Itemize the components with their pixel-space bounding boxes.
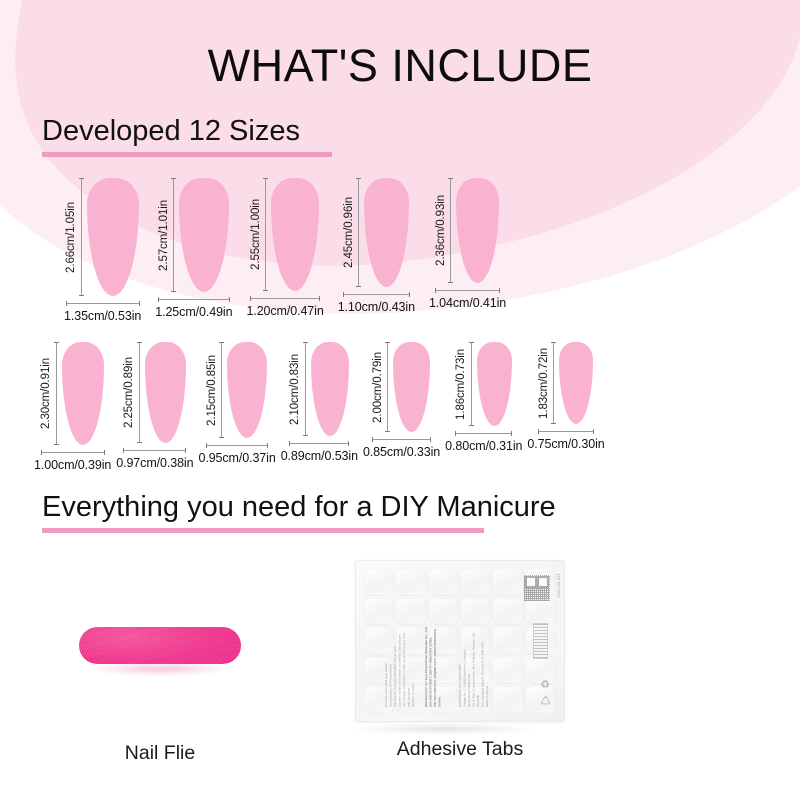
nail-size-visual: 2.10cm/0.83in xyxy=(290,342,349,436)
nail-height-label: 2.10cm/0.83in xyxy=(290,354,302,425)
product-nail-file: Nail Flie xyxy=(40,560,280,765)
nail-height-label: 1.83cm/0.72in xyxy=(539,348,551,419)
nail-height-label: 2.55cm/1.00in xyxy=(251,199,263,270)
nail-width-dimension: 1.35cm/0.53in xyxy=(64,296,141,323)
nail-size-item: 2.45cm/0.96in1.10cm/0.43in xyxy=(338,178,415,314)
nail-width-dimension: 0.89cm/0.53in xyxy=(281,436,358,463)
nail-width-label: 1.25cm/0.49in xyxy=(155,305,232,319)
nail-shape xyxy=(62,342,104,445)
nail-size-visual: 2.00cm/0.79in xyxy=(373,342,431,432)
nail-width-dimension-line xyxy=(372,439,431,440)
nail-width-dimension: 1.10cm/0.43in xyxy=(338,287,415,314)
nail-height-dimension: 2.00cm/0.79in xyxy=(373,342,394,432)
nail-shape xyxy=(145,342,186,443)
adhesive-tabs-stage: Product name: Nail glue sticker Specific… xyxy=(340,556,580,726)
package-print-column-1: Product name: Nail glue sticker Specific… xyxy=(384,575,415,707)
nail-size-item: 2.57cm/1.01in1.25cm/0.49in xyxy=(155,178,232,319)
nail-height-dimension: 2.30cm/0.91in xyxy=(41,342,62,445)
nail-size-visual: 1.83cm/0.72in xyxy=(539,342,594,424)
nail-file-icon xyxy=(79,627,241,664)
nail-height-dimension-line xyxy=(358,178,359,287)
nail-height-label: 2.45cm/0.96in xyxy=(344,197,356,268)
nail-width-dimension: 1.25cm/0.49in xyxy=(155,292,232,319)
nail-size-visual: 2.25cm/0.89in xyxy=(124,342,186,443)
nail-shape xyxy=(227,342,267,438)
section-heading-diy-label: Everything you need for a DIY Manicure xyxy=(42,492,556,523)
nail-size-item: 2.66cm/1.05in1.35cm/0.53in xyxy=(64,178,141,323)
nail-shape xyxy=(364,178,409,287)
nail-width-dimension-line xyxy=(250,298,320,299)
nail-width-dimension-line xyxy=(66,303,140,304)
nail-width-dimension-line xyxy=(455,433,512,434)
nail-height-dimension: 2.25cm/0.89in xyxy=(124,342,145,443)
nail-width-dimension: 0.85cm/0.33in xyxy=(363,432,440,459)
adhesive-tabs-shadow xyxy=(352,723,536,735)
page-title: WHAT'S INCLUDE xyxy=(0,40,800,92)
nail-width-dimension: 0.75cm/0.30in xyxy=(527,424,604,451)
nail-height-label: 2.15cm/0.85in xyxy=(207,355,219,426)
adhesive-tab-bubble xyxy=(526,598,556,626)
nail-size-visual: 2.15cm/0.85in xyxy=(207,342,268,438)
nail-height-dimension: 1.86cm/0.73in xyxy=(456,342,477,426)
nail-width-dimension-line xyxy=(343,294,410,295)
nail-width-label: 0.80cm/0.31in xyxy=(445,439,522,453)
nail-width-dimension-line xyxy=(123,450,186,451)
nail-width-dimension-line xyxy=(289,443,349,444)
nail-width-label: 1.00cm/0.39in xyxy=(34,458,111,472)
package-printed-text: Product name: Nail glue sticker Specific… xyxy=(384,575,516,707)
nail-height-label: 2.00cm/0.79in xyxy=(373,352,385,423)
adhesive-tabs-package: Product name: Nail glue sticker Specific… xyxy=(355,560,565,722)
nail-width-dimension: 0.95cm/0.37in xyxy=(198,438,275,465)
nail-width-label: 1.20cm/0.47in xyxy=(246,304,323,318)
nail-shape xyxy=(179,178,229,292)
nail-size-row-1: 2.66cm/1.05in1.35cm/0.53in2.57cm/1.01in1… xyxy=(64,178,506,323)
nail-file-shadow xyxy=(89,662,231,676)
nail-size-item: 2.30cm/0.91in1.00cm/0.39in xyxy=(34,342,111,472)
nail-height-dimension: 2.10cm/0.83in xyxy=(290,342,311,436)
nail-height-dimension-line xyxy=(387,342,388,432)
nail-width-dimension: 0.80cm/0.31in xyxy=(445,426,522,453)
nail-height-dimension-line xyxy=(139,342,140,443)
nail-height-dimension-line xyxy=(173,178,174,292)
nail-shape xyxy=(311,342,349,436)
nail-height-dimension-line xyxy=(265,178,266,291)
nail-shape xyxy=(393,342,430,432)
nail-size-visual: 2.30cm/0.91in xyxy=(41,342,104,445)
nail-height-label: 1.86cm/0.73in xyxy=(456,349,468,420)
nail-width-label: 0.85cm/0.33in xyxy=(363,445,440,459)
nail-size-item: 1.83cm/0.72in0.75cm/0.30in xyxy=(527,342,604,451)
nail-height-label: 2.57cm/1.01in xyxy=(159,200,171,271)
nail-height-dimension: 2.45cm/0.96in xyxy=(344,178,365,287)
nail-width-label: 0.97cm/0.38in xyxy=(116,456,193,470)
nail-file-stage xyxy=(40,560,280,730)
nail-height-dimension: 1.83cm/0.72in xyxy=(539,342,560,424)
nail-shape xyxy=(271,178,319,291)
nail-file-wrap xyxy=(79,627,241,664)
product-label-adhesive-tabs: Adhesive Tabs xyxy=(397,738,523,761)
nail-height-dimension-line xyxy=(305,342,306,436)
green-dot-recycle-icon: ♺ xyxy=(540,695,551,707)
nail-width-dimension: 1.04cm/0.41in xyxy=(429,283,506,310)
nail-height-dimension: 2.15cm/0.85in xyxy=(207,342,228,438)
nail-height-dimension-line xyxy=(553,342,554,424)
nail-height-dimension: 2.66cm/1.05in xyxy=(66,178,87,296)
nail-shape xyxy=(477,342,512,426)
nail-width-label: 1.10cm/0.43in xyxy=(338,300,415,314)
nail-width-label: 0.95cm/0.37in xyxy=(198,451,275,465)
section-heading-sizes-label: Developed 12 Sizes xyxy=(42,116,332,147)
nail-width-dimension-line xyxy=(158,299,230,300)
product-adhesive-tabs: Product name: Nail glue sticker Specific… xyxy=(340,556,580,761)
nail-width-dimension-line xyxy=(538,431,594,432)
infographic-page: WHAT'S INCLUDE Developed 12 Sizes 2.66cm… xyxy=(0,0,800,800)
nail-height-label: 2.36cm/0.93in xyxy=(436,195,448,266)
nail-size-visual: 2.66cm/1.05in xyxy=(66,178,139,296)
qr-code-icon xyxy=(524,575,550,601)
nail-size-visual: 2.45cm/0.96in xyxy=(344,178,410,287)
nail-size-item: 2.25cm/0.89in0.97cm/0.38in xyxy=(116,342,193,470)
nail-size-item: 2.36cm/0.93in1.04cm/0.41in xyxy=(429,178,506,310)
nail-height-dimension-line xyxy=(56,342,57,445)
nail-width-label: 0.89cm/0.53in xyxy=(281,449,358,463)
nail-size-visual: 2.36cm/0.93in xyxy=(436,178,500,283)
nail-width-label: 1.35cm/0.53in xyxy=(64,309,141,323)
package-print-column-2: Manufacturer by: Hua Promotional Materia… xyxy=(424,575,442,707)
nail-width-dimension: 1.20cm/0.47in xyxy=(246,291,323,318)
nail-height-label: 2.66cm/1.05in xyxy=(66,202,78,273)
nail-size-item: 2.00cm/0.79in0.85cm/0.33in xyxy=(363,342,440,459)
nail-height-dimension: 2.55cm/1.00in xyxy=(251,178,272,291)
nail-shape xyxy=(456,178,499,283)
nail-width-dimension: 0.97cm/0.38in xyxy=(116,443,193,470)
nail-size-item: 2.55cm/1.00in1.20cm/0.47in xyxy=(246,178,323,318)
nail-height-dimension-line xyxy=(81,178,82,296)
nail-height-label: 2.30cm/0.91in xyxy=(41,358,53,429)
section-heading-sizes-underline xyxy=(42,152,332,157)
nail-size-visual: 1.86cm/0.73in xyxy=(456,342,512,426)
nail-size-row-2: 2.30cm/0.91in1.00cm/0.39in2.25cm/0.89in0… xyxy=(34,342,605,472)
nail-width-dimension-line xyxy=(206,445,268,446)
nail-size-visual: 2.55cm/1.00in xyxy=(251,178,320,291)
section-heading-sizes: Developed 12 Sizes xyxy=(42,116,332,157)
nail-height-dimension: 2.57cm/1.01in xyxy=(159,178,180,292)
product-label-nail-file: Nail Flie xyxy=(125,742,195,765)
recycle-arrows-icon: ♻ xyxy=(540,680,550,691)
nail-height-dimension-line xyxy=(471,342,472,426)
nail-height-label: 2.25cm/0.89in xyxy=(124,357,136,428)
nail-width-dimension-line xyxy=(435,290,500,291)
nail-height-dimension: 2.36cm/0.93in xyxy=(436,178,457,283)
barcode-icon xyxy=(533,623,548,659)
nail-shape xyxy=(559,342,593,424)
nail-width-label: 0.75cm/0.30in xyxy=(527,437,604,451)
nail-height-dimension-line xyxy=(450,178,451,283)
nail-width-label: 1.04cm/0.41in xyxy=(429,296,506,310)
section-heading-diy: Everything you need for a DIY Manicure xyxy=(42,492,556,533)
nail-width-dimension: 1.00cm/0.39in xyxy=(34,445,111,472)
nail-size-item: 2.15cm/0.85in0.95cm/0.37in xyxy=(198,342,275,465)
section-heading-diy-underline xyxy=(42,528,484,533)
nail-size-item: 1.86cm/0.73in0.80cm/0.31in xyxy=(445,342,522,453)
nail-width-dimension-line xyxy=(41,452,105,453)
nail-shape xyxy=(87,178,139,296)
nail-size-visual: 2.57cm/1.01in xyxy=(159,178,230,292)
nail-size-item: 2.10cm/0.83in0.89cm/0.53in xyxy=(281,342,358,463)
package-print-column-3: EUROPEAN ADVISORY GRP Village Str. 2, 24… xyxy=(458,575,489,707)
package-date-code: 2024-03-021 xyxy=(556,573,561,598)
nail-height-dimension-line xyxy=(221,342,222,438)
